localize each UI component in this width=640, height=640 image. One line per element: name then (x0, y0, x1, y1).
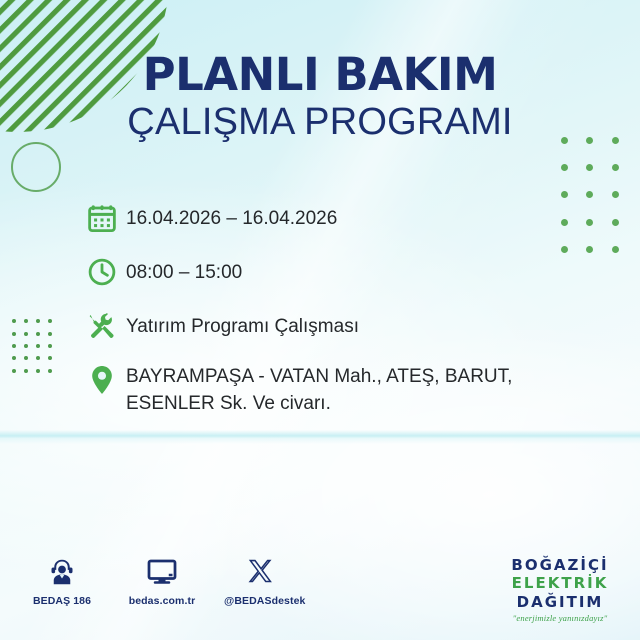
contact-channels: BEDAŞ 186 bedas.com.tr (24, 552, 300, 607)
page-title-primary: PLANLI BAKIM (0, 52, 640, 97)
contact-twitter-label: @BEDASdestek (224, 595, 300, 607)
logo-line-elektrik: ELEKTRİK (498, 574, 622, 592)
contact-website[interactable]: bedas.com.tr (124, 552, 200, 607)
location-pin-icon (88, 360, 126, 400)
headset-support-icon (24, 552, 100, 592)
detail-time-text: 08:00 – 15:00 (126, 252, 588, 287)
contact-twitter[interactable]: @BEDASdestek (224, 552, 300, 607)
logo-tagline: "enerjimizle yanınızdayız" (498, 613, 622, 623)
bedas-logo: BOĞAZİÇİ ELEKTRİK DAĞITIM "enerjimizle y… (498, 556, 622, 623)
tools-icon (88, 306, 126, 346)
maintenance-details-list: 16.04.2026 – 16.04.2026 08:00 – 15:00 (88, 198, 588, 432)
page-title-secondary: ÇALIŞMA PROGRAMI (0, 103, 640, 143)
detail-date-text: 16.04.2026 – 16.04.2026 (126, 198, 588, 233)
x-twitter-icon (224, 552, 300, 592)
clock-icon (88, 252, 126, 292)
logo-line-dagitim: DAĞITIM (498, 593, 622, 611)
poster-footer: BEDAŞ 186 bedas.com.tr (0, 550, 640, 626)
detail-row-date: 16.04.2026 – 16.04.2026 (88, 198, 588, 238)
background-wave-divider (0, 430, 640, 444)
logo-line-bogazici: BOĞAZİÇİ (498, 556, 622, 574)
contact-phone-label: BEDAŞ 186 (24, 595, 100, 607)
detail-address-text: BAYRAMPAŞA - VATAN Mah., ATEŞ, BARUT, ES… (126, 360, 588, 418)
calendar-icon (88, 198, 126, 238)
detail-row-worktype: Yatırım Programı Çalışması (88, 306, 588, 346)
dot-grid-left-decoration (8, 315, 56, 377)
planned-maintenance-poster: PLANLI BAKIM ÇALIŞMA PROGRAMI (0, 0, 640, 640)
monitor-icon (124, 552, 200, 592)
detail-row-address: BAYRAMPAŞA - VATAN Mah., ATEŞ, BARUT, ES… (88, 360, 588, 418)
poster-header: PLANLI BAKIM ÇALIŞMA PROGRAMI (0, 52, 640, 143)
contact-phone[interactable]: BEDAŞ 186 (24, 552, 100, 607)
detail-worktype-text: Yatırım Programı Çalışması (126, 306, 588, 341)
detail-row-time: 08:00 – 15:00 (88, 252, 588, 292)
circle-outline-decoration (11, 142, 61, 192)
contact-website-label: bedas.com.tr (124, 595, 200, 607)
